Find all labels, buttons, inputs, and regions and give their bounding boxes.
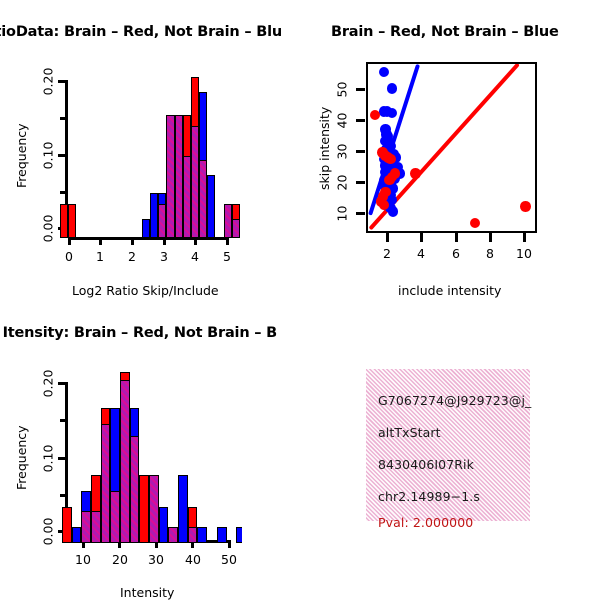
- scatter-xlabel-6: 6: [446, 246, 466, 261]
- scatter-point: [410, 168, 420, 178]
- histogram-bar: [142, 219, 150, 238]
- histogram-bar: [217, 527, 227, 543]
- scatter-ylabel-50: 50: [335, 78, 350, 102]
- scatter-xlabel-2: 2: [377, 246, 397, 261]
- hist-ratio-xlabel-2: 2: [122, 249, 142, 264]
- histogram-bar-overlap: [166, 115, 174, 238]
- histogram-bar: [60, 204, 68, 238]
- hist-ratio-xlabel-5: 5: [217, 249, 237, 264]
- histogram-bar-overlap: [130, 436, 140, 543]
- hist-ratio-xtick-4: [194, 237, 197, 245]
- hist-intensity-xlabel-30: 30: [143, 552, 169, 567]
- hist-ratio-xtick-3: [163, 237, 166, 245]
- histogram-bar: [178, 475, 188, 543]
- hist-ratio-ylabel-000: 0.00: [41, 213, 56, 245]
- panel-hist-ratio: RatioData: Brain – Red, Not Brain – Blu …: [0, 0, 300, 300]
- scatter-plot-area: [368, 64, 535, 231]
- hist-intensity-xlabel-10: 10: [70, 552, 96, 567]
- scatter-ytick-10: [356, 212, 365, 215]
- scatter-xtick-4: [420, 233, 423, 242]
- scatter-xlabel-10: 10: [511, 246, 537, 261]
- scatter-point: [370, 110, 380, 120]
- scatter-ytick-50: [356, 88, 365, 91]
- histogram-bar-overlap: [175, 115, 183, 238]
- scatter-point: [379, 67, 389, 77]
- hist-ratio-xlabel-4: 4: [185, 249, 205, 264]
- hist-intensity-ylabel-020: 0.20: [41, 368, 56, 400]
- scatter-point: [470, 218, 480, 228]
- histogram-bar-overlap: [191, 126, 199, 238]
- histogram-bar-overlap: [232, 219, 240, 238]
- histogram-bar-overlap: [224, 204, 232, 238]
- histogram-bar: [68, 204, 76, 238]
- hist-ratio-plot-area: [60, 70, 240, 238]
- scatter-xlabel: include intensity: [398, 283, 501, 298]
- info-line-event-type: altTxStart: [378, 425, 441, 440]
- histogram-bar-overlap: [101, 424, 111, 543]
- figure-canvas: RatioData: Brain – Red, Not Brain – Blu …: [0, 0, 600, 600]
- panel-scatter: Brain – Red, Not Brain – Blue skip inten…: [300, 0, 600, 300]
- info-line-pval: Pval: 2.000000: [378, 515, 473, 530]
- scatter-title: Brain – Red, Not Brain – Blue: [331, 24, 559, 40]
- histogram-bar: [72, 527, 82, 543]
- hist-intensity-xlabel-20: 20: [107, 552, 133, 567]
- info-line-gene-symbol: 8430406I07Rik: [378, 457, 474, 472]
- scatter-ylabel-30: 30: [335, 140, 350, 164]
- scatter-ylabel-10: 10: [335, 202, 350, 226]
- scatter-xtick-8: [489, 233, 492, 242]
- hist-ratio-xtick-5: [226, 237, 229, 245]
- hist-intensity-plot-area: [60, 372, 242, 543]
- hist-ratio-title: RatioData: Brain – Red, Not Brain – Blu: [0, 24, 282, 40]
- hist-ratio-xlabel: Log2 Ratio Skip/Include: [72, 283, 219, 298]
- scatter-ylabel: skip intensity: [317, 107, 332, 190]
- hist-intensity-xlabel: Intensity: [120, 585, 174, 600]
- scatter-xtick-10: [523, 233, 526, 242]
- histogram-bar: [197, 527, 207, 543]
- histogram-bar-overlap: [183, 156, 191, 238]
- hist-intensity-xlabel-40: 40: [180, 552, 206, 567]
- hist-intensity-ylabel: Frequency: [14, 425, 29, 490]
- histogram-bar-overlap: [120, 380, 130, 543]
- hist-intensity-ylabel-010: 0.10: [41, 443, 56, 475]
- hist-intensity-ylabel-000: 0.00: [41, 516, 56, 548]
- scatter-point: [520, 201, 530, 211]
- scatter-point: [388, 206, 398, 216]
- hist-ratio-xtick-0: [68, 237, 71, 245]
- scatter-xlabel-8: 8: [480, 246, 500, 261]
- histogram-bar-overlap: [158, 204, 166, 238]
- histogram-bar-overlap: [81, 511, 91, 543]
- scatter-ytick-20: [356, 181, 365, 184]
- histogram-bar: [62, 507, 72, 543]
- scatter-xtick-6: [455, 233, 458, 242]
- hist-ratio-xtick-1: [99, 237, 102, 245]
- histogram-bar-overlap: [188, 527, 198, 543]
- histogram-bar-overlap: [199, 160, 207, 238]
- scatter-xlabel-4: 4: [411, 246, 431, 261]
- histogram-bar-overlap: [168, 527, 178, 543]
- histogram-bar-overlap: [110, 491, 120, 543]
- scatter-point: [387, 83, 397, 93]
- scatter-xtick-2: [386, 233, 389, 242]
- histogram-bar: [236, 527, 242, 543]
- panel-hist-intensity: ne Itensity: Brain – Red, Not Brain – B …: [0, 300, 300, 600]
- info-line-identifier: G7067274@J929723@j_: [378, 393, 531, 408]
- scatter-point: [387, 108, 397, 118]
- hist-ratio-xlabel-1: 1: [90, 249, 110, 264]
- histogram-bar-overlap: [149, 475, 159, 543]
- hist-ratio-ylabel-010: 0.10: [41, 140, 56, 172]
- scatter-ylabel-40: 40: [335, 109, 350, 133]
- histogram-bar: [150, 193, 158, 238]
- hist-ratio-ylabel: Frequency: [14, 123, 29, 188]
- hist-intensity-title: ne Itensity: Brain – Red, Not Brain – B: [0, 325, 277, 341]
- histogram-bar-overlap: [91, 511, 101, 543]
- histogram-bar: [159, 507, 169, 543]
- histogram-bar: [139, 475, 149, 543]
- scatter-ytick-30: [356, 150, 365, 153]
- hist-ratio-xlabel-3: 3: [154, 249, 174, 264]
- hist-intensity-xlabel-50: 50: [216, 552, 242, 567]
- scatter-ytick-40: [356, 119, 365, 122]
- hist-ratio-ylabel-020: 0.20: [41, 66, 56, 98]
- hist-ratio-xtick-2: [131, 237, 134, 245]
- histogram-bar: [207, 175, 215, 238]
- info-line-locus: chr2.14989−1.s: [378, 489, 480, 504]
- scatter-point: [385, 154, 395, 164]
- gene-info-panel: G7067274@J929723@j_ altTxStart 8430406I0…: [366, 369, 530, 521]
- scatter-ylabel-20: 20: [335, 171, 350, 195]
- hist-ratio-xlabel-0: 0: [59, 249, 79, 264]
